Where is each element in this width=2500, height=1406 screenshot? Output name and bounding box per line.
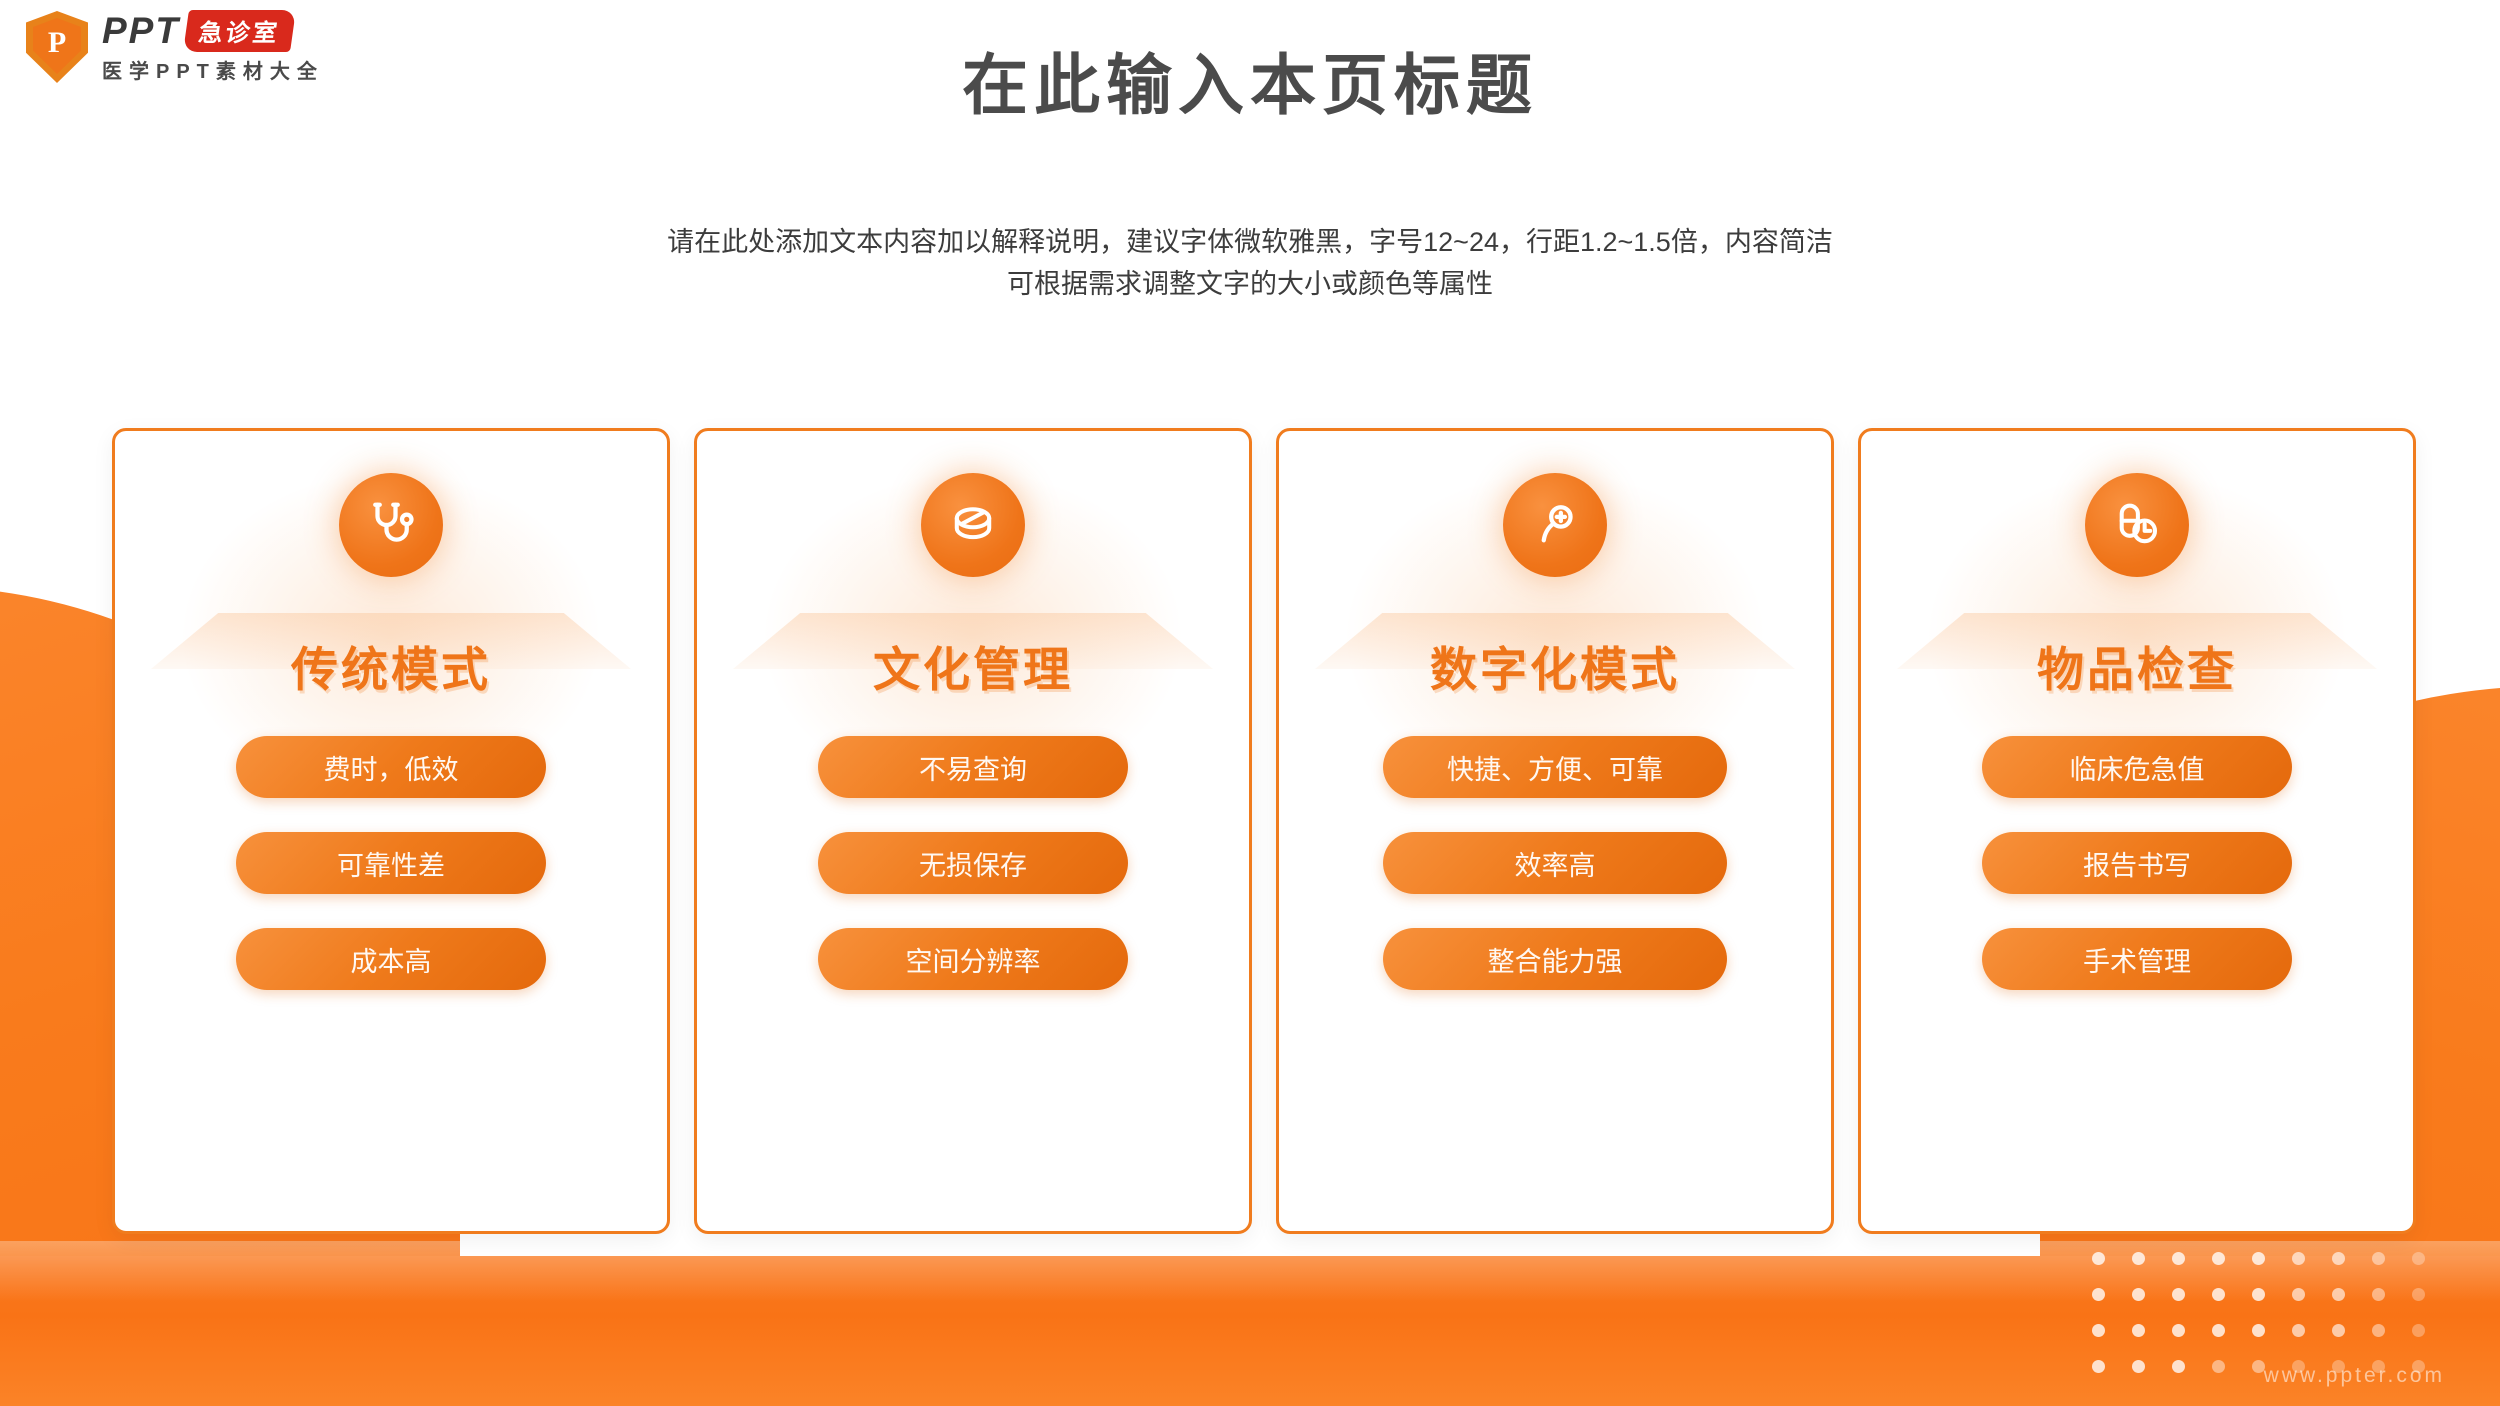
subtitle-line-2: 可根据需求调整文字的大小或颜色等属性 <box>0 264 2500 306</box>
pill-list: 费时，低效 可靠性差 成本高 <box>115 736 667 990</box>
card-title: 物品检查 <box>1861 631 2413 700</box>
card-culture-management[interactable]: 文化管理 不易查询 无损保存 空间分辨率 <box>694 428 1252 1234</box>
card-row: 传统模式 费时，低效 可靠性差 成本高 文化管理 <box>112 428 2416 1234</box>
subtitle-line-1: 请在此处添加文本内容加以解释说明，建议字体微软雅黑，字号12~24，行距1.2~… <box>0 222 2500 264</box>
pill-item[interactable]: 费时，低效 <box>236 736 546 798</box>
card-traditional-mode[interactable]: 传统模式 费时，低效 可靠性差 成本高 <box>112 428 670 1234</box>
icon-wrap <box>2085 473 2189 577</box>
pill-item[interactable]: 手术管理 <box>1982 928 2292 990</box>
pill-list: 不易查询 无损保存 空间分辨率 <box>697 736 1249 990</box>
card-title: 数字化模式 <box>1279 631 1831 700</box>
icon-wrap <box>1503 473 1607 577</box>
dot-grid-decoration <box>2092 1240 2452 1384</box>
medical-probe-icon <box>1503 473 1607 577</box>
page-title: 在此输入本页标题 <box>0 32 2500 128</box>
pill-tablet-icon <box>921 473 1025 577</box>
stethoscope-icon <box>339 473 443 577</box>
pill-item[interactable]: 无损保存 <box>818 832 1128 894</box>
watermark-url: www.ppter.com <box>2264 1364 2445 1388</box>
pill-item[interactable]: 不易查询 <box>818 736 1128 798</box>
card-digital-mode[interactable]: 数字化模式 快捷、方便、可靠 效率高 整合能力强 <box>1276 428 1834 1234</box>
pill-list: 快捷、方便、可靠 效率高 整合能力强 <box>1279 736 1831 990</box>
icon-wrap <box>339 473 443 577</box>
card-item-inspection[interactable]: 物品检查 临床危急值 报告书写 手术管理 <box>1858 428 2416 1234</box>
pill-item[interactable]: 整合能力强 <box>1383 928 1727 990</box>
page-subtitle: 请在此处添加文本内容加以解释说明，建议字体微软雅黑，字号12~24，行距1.2~… <box>0 222 2500 306</box>
pill-item[interactable]: 报告书写 <box>1982 832 2292 894</box>
icon-wrap <box>921 473 1025 577</box>
pill-item[interactable]: 快捷、方便、可靠 <box>1383 736 1727 798</box>
card-title: 传统模式 <box>115 631 667 700</box>
pill-item[interactable]: 空间分辨率 <box>818 928 1128 990</box>
pill-list: 临床危急值 报告书写 手术管理 <box>1861 736 2413 990</box>
pill-item[interactable]: 临床危急值 <box>1982 736 2292 798</box>
slide-canvas: P PPT 急诊室 医学PPT素材大全 在此输入本页标题 请在此处添加文本内容加… <box>0 0 2500 1406</box>
pill-item[interactable]: 可靠性差 <box>236 832 546 894</box>
capsule-clock-icon <box>2085 473 2189 577</box>
card-title: 文化管理 <box>697 631 1249 700</box>
pill-item[interactable]: 成本高 <box>236 928 546 990</box>
pill-item[interactable]: 效率高 <box>1383 832 1727 894</box>
